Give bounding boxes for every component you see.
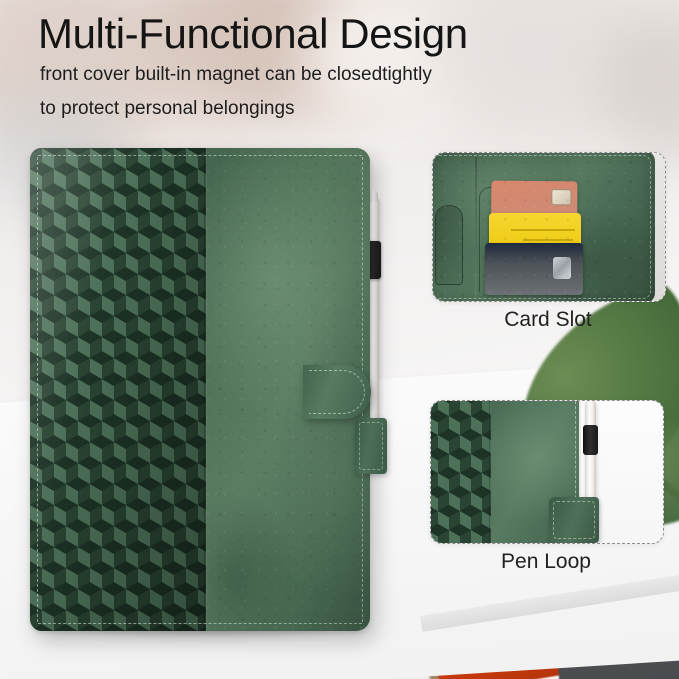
wallet-interior [432, 152, 655, 302]
callout-label-pen-loop: Pen Loop [430, 550, 662, 574]
callout-label-card-slot: Card Slot [432, 308, 664, 332]
empty-card-pocket [435, 205, 463, 285]
page-title: Multi-Functional Design [38, 10, 468, 58]
callout-panel-card-slot [432, 152, 666, 302]
stitching-outline [432, 155, 651, 299]
magnetic-clasp-flap [303, 365, 371, 419]
card-line-decor [523, 239, 573, 241]
card-line-decor [511, 229, 575, 231]
card-pocket-divider [479, 187, 502, 292]
credit-card-orange [491, 181, 578, 290]
stitching-left [37, 157, 38, 622]
embossed-cube-texture-panel [30, 148, 206, 631]
embossed-cube-texture-panel [430, 400, 491, 544]
wallet-fold-line [475, 157, 477, 297]
pen-loop [355, 418, 387, 474]
panel-seam [204, 148, 207, 631]
card-hologram-icon [553, 257, 571, 279]
card-chip-icon [523, 247, 535, 262]
credit-card-yellow [489, 213, 581, 267]
subtitle-line-2: to protect personal belongings [40, 98, 295, 120]
stitching-top [38, 155, 362, 156]
panel-seam [489, 401, 491, 543]
card-chip-icon [551, 189, 571, 205]
stitching-bottom [38, 623, 362, 624]
product-feature-image: Multi-Functional Design front cover buil… [0, 0, 679, 679]
callout-panel-pen-loop [430, 400, 664, 544]
credit-card-gray [485, 243, 583, 295]
stylus-elastic-band [583, 425, 598, 455]
subtitle-line-1: front cover built-in magnet can be close… [40, 64, 432, 86]
pen-loop [549, 497, 599, 543]
stylus-tip [369, 190, 378, 202]
